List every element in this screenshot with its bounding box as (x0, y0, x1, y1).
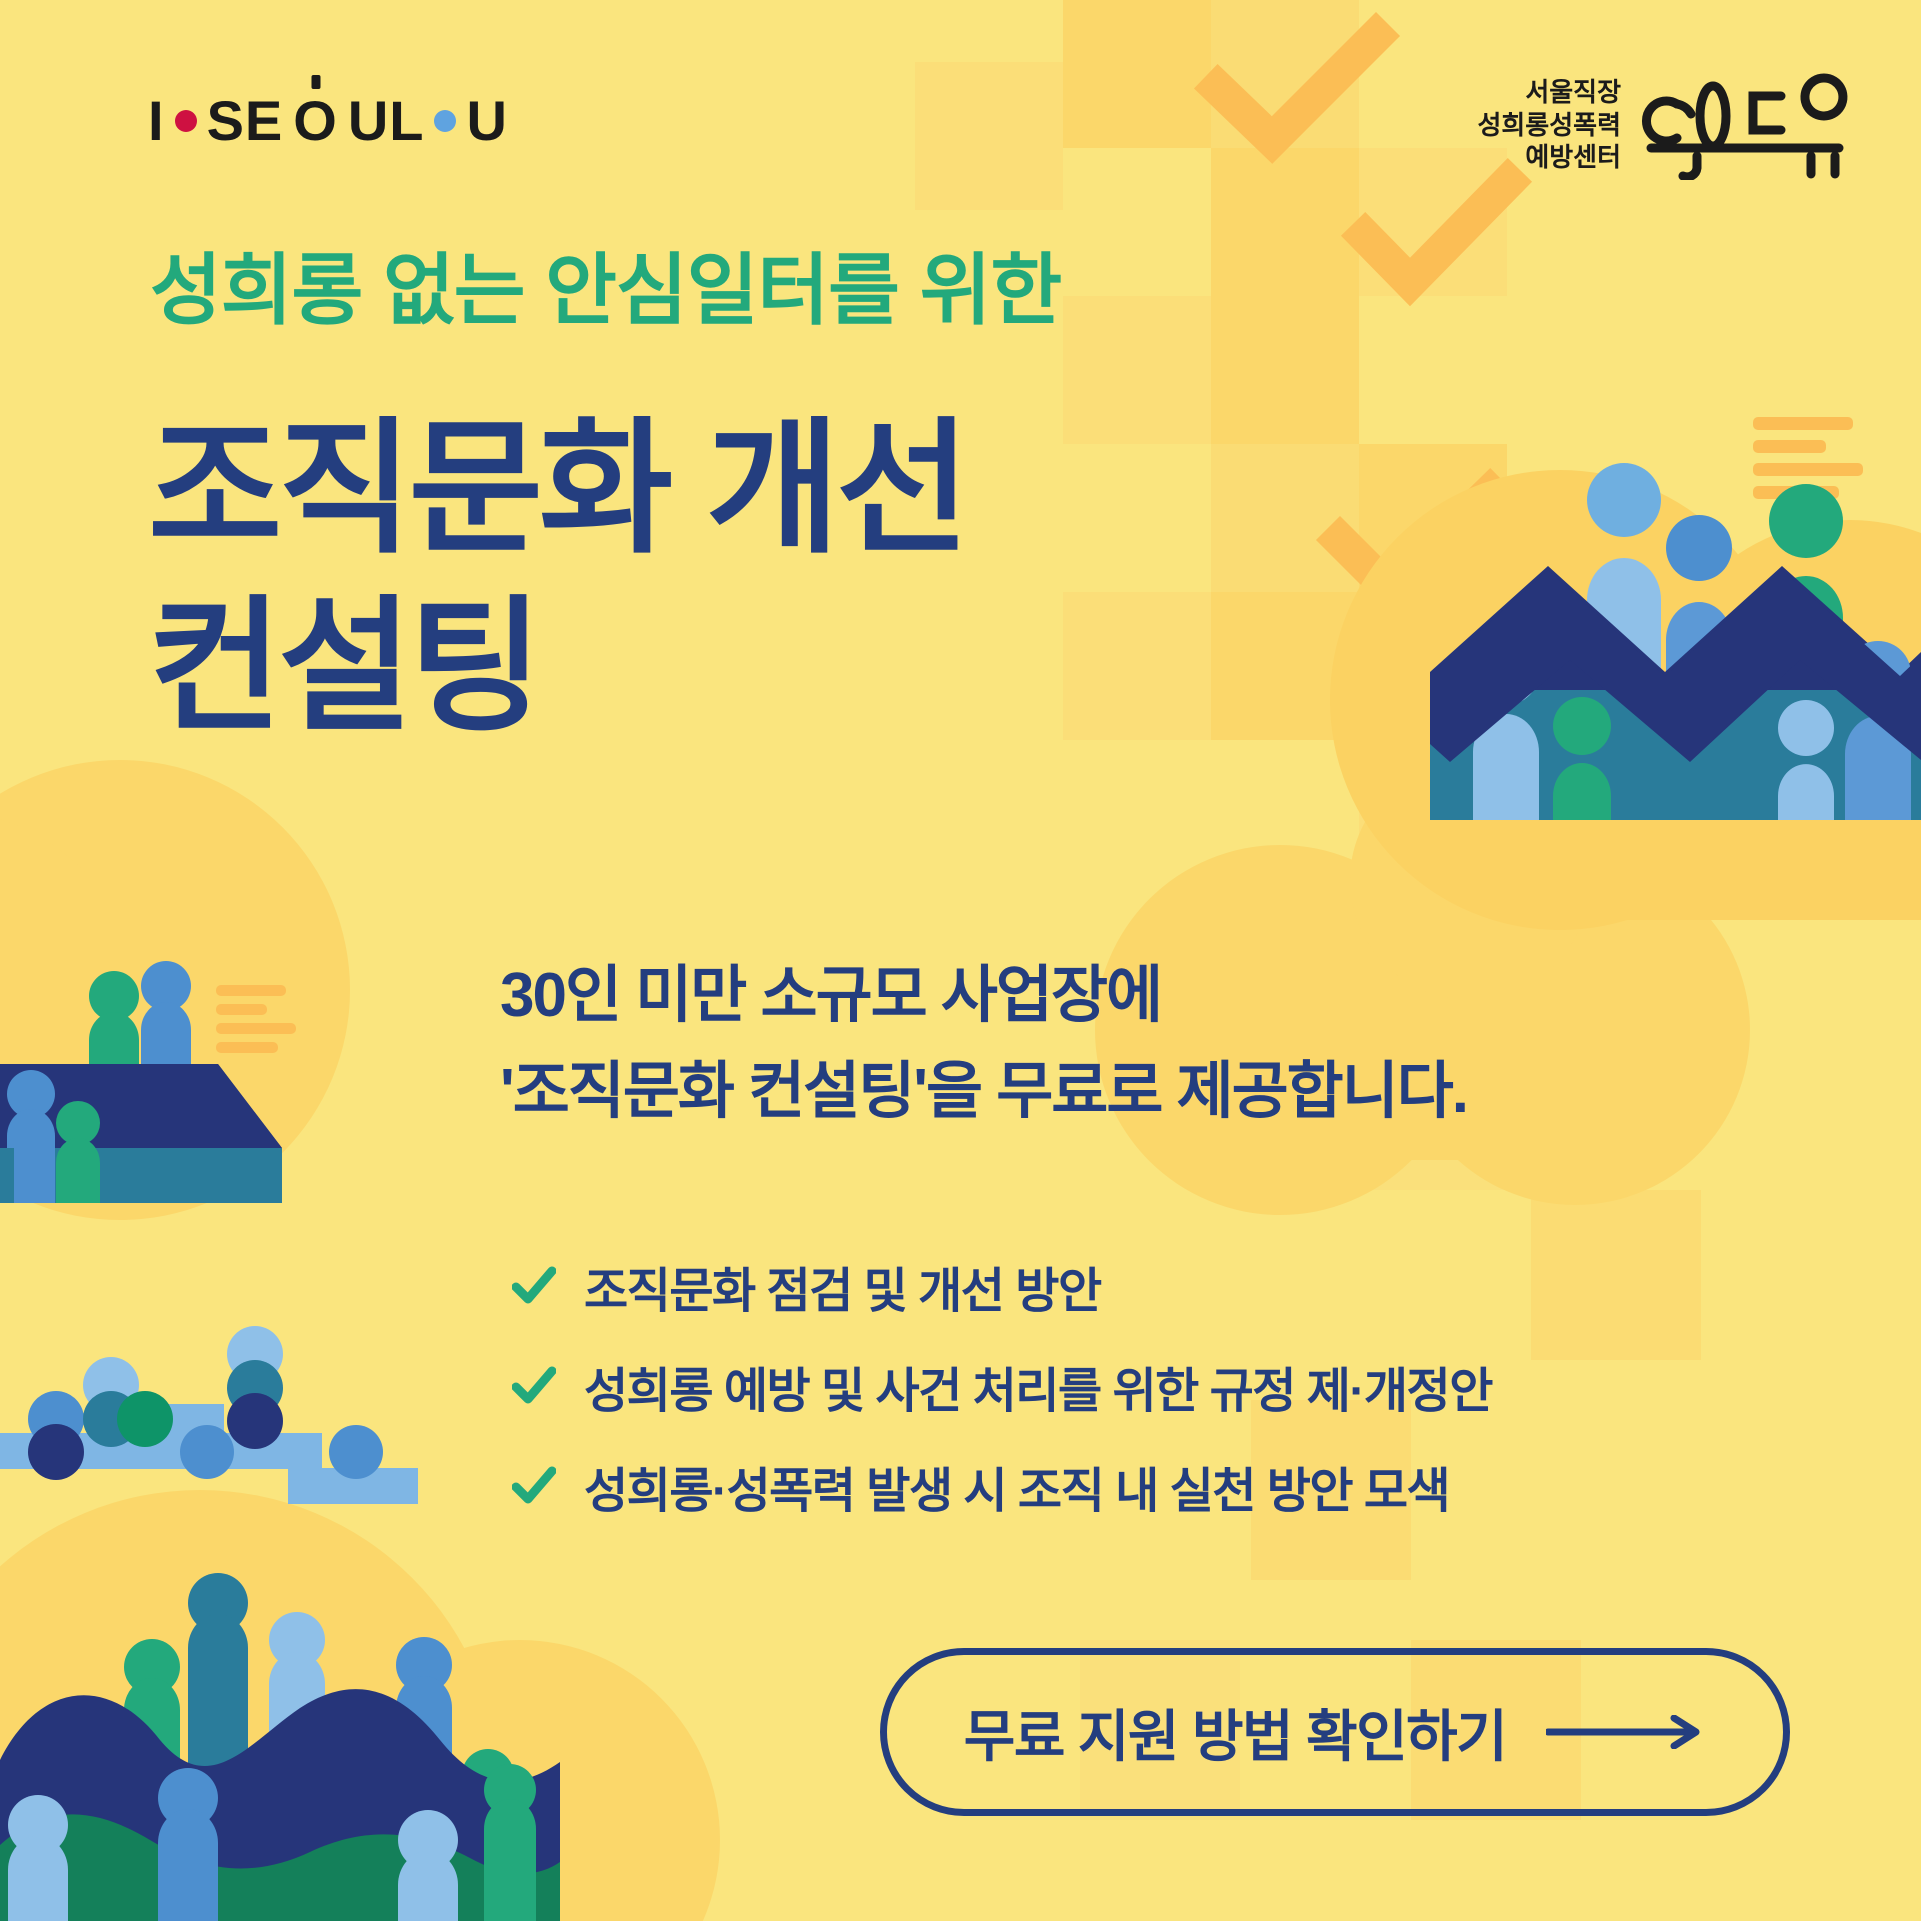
with-you-logomark-icon (1639, 70, 1849, 180)
abstract-text-lines (1753, 417, 1863, 499)
list-item-label: 조직문화 점검 및 개선 방안 (584, 1251, 1101, 1321)
soft-blobs-bottom (0, 1490, 720, 1921)
hero-eyebrow: 성희롱 없는 안심일터를 위한 (150, 228, 1061, 340)
check-icon (512, 1464, 556, 1508)
red-dot-icon (175, 110, 197, 132)
cta-label: 무료 지원 방법 확인하기 (964, 1692, 1506, 1773)
lead-paragraph: 30인 미만 소규모 사업장에 '조직문화 컨설팅'을 무료로 제공합니다. (500, 948, 1467, 1140)
cta-button[interactable]: 무료 지원 방법 확인하기 (880, 1648, 1790, 1816)
list-item-label: 성희롱·성폭력 발생 시 조직 내 실천 방안 모색 (584, 1451, 1449, 1521)
headline-line-2: 컨설팅 (148, 578, 966, 756)
logo-letter-o: O (293, 88, 338, 153)
people-on-platform-illustration (0, 961, 296, 1203)
prevention-center-logo: 서울직장 성희롱성폭력 예방센터 (1477, 70, 1849, 180)
abstract-text-lines-left (216, 985, 296, 1053)
logo-letters-ul: UL (348, 88, 425, 153)
soft-blobs-left (0, 760, 350, 1220)
headline-line-1: 조직문화 개선 (148, 400, 966, 578)
logo-letter-i: I (148, 88, 165, 153)
crowd-of-people-illustration (0, 1573, 560, 1921)
figure-group-back (1587, 463, 1843, 770)
list-item-label: 성희롱 예방 및 사건 처리를 위한 규정 제·개정안 (584, 1351, 1492, 1421)
feature-list: 조직문화 점검 및 개선 방안 성희롱 예방 및 사건 처리를 위한 규정 제·… (512, 1236, 1492, 1536)
i-seoul-u-logo: I SE O UL U (148, 88, 508, 153)
list-item: 성희롱 예방 및 사건 처리를 위한 규정 제·개정안 (512, 1336, 1492, 1436)
people-on-mountains-illustration (1430, 417, 1921, 820)
center-name-line2: 성희롱성폭력 (1477, 109, 1621, 142)
center-name-line1: 서울직장 (1477, 76, 1621, 109)
soft-blob-right-scene (1330, 470, 1921, 930)
page-title: 조직문화 개선 컨설팅 (148, 400, 966, 756)
center-name-line3: 예방센터 (1477, 141, 1621, 174)
logo-letters-se: SE (207, 88, 284, 153)
blue-dot-icon (434, 110, 456, 132)
list-item: 성희롱·성폭력 발생 시 조직 내 실천 방안 모색 (512, 1436, 1492, 1536)
list-item: 조직문화 점검 및 개선 방안 (512, 1236, 1492, 1336)
poster-canvas: I SE O UL U 서울직장 성희롱성폭력 예방센터 (0, 0, 1921, 1921)
lead-line-2: '조직문화 컨설팅'을 무료로 제공합니다. (500, 1044, 1467, 1140)
logo-letter-u: U (466, 88, 507, 153)
orange-check-marks (1218, 36, 1508, 590)
figure-group-front (1430, 639, 1921, 820)
arrow-right-icon (1546, 1715, 1706, 1749)
check-icon (512, 1364, 556, 1408)
lead-line-1: 30인 미만 소규모 사업장에 (500, 948, 1467, 1044)
center-logo-text: 서울직장 성희롱성폭력 예방센터 (1477, 76, 1621, 174)
check-icon (512, 1264, 556, 1308)
stair-step-dots-illustration (0, 1326, 418, 1504)
